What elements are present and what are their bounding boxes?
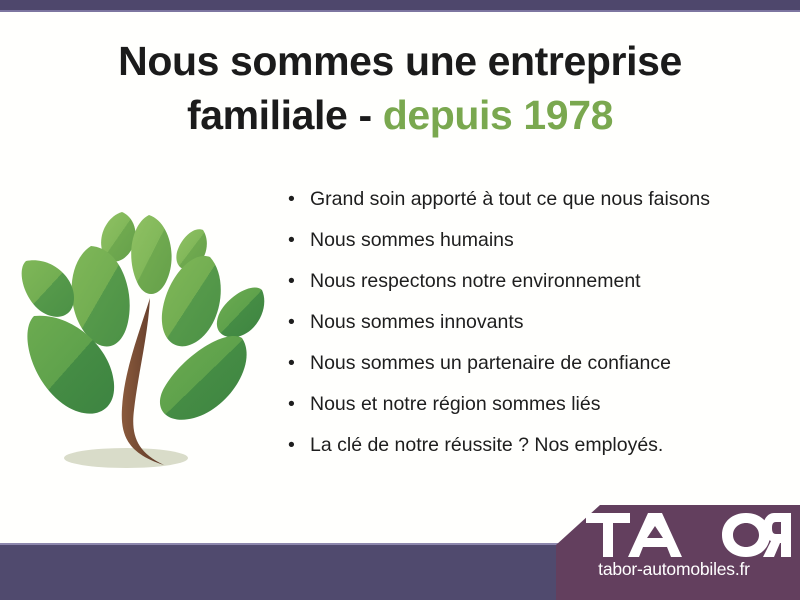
bullet-marker: • xyxy=(288,270,295,292)
list-item-label: Nous respectons notre environnement xyxy=(310,270,641,292)
list-item: • Nous sommes innovants xyxy=(284,311,784,333)
headline-line-2: familiale - depuis 1978 xyxy=(60,88,740,142)
tree-illustration xyxy=(18,186,270,492)
bullet-marker: • xyxy=(288,434,295,456)
list-item: • Nous et notre région sommes liés xyxy=(284,393,784,415)
list-item-label: Nous sommes un partenaire de confiance xyxy=(310,352,671,374)
bullet-marker: • xyxy=(288,311,295,333)
bullet-marker: • xyxy=(288,229,295,251)
list-item: • Nous sommes un partenaire de confiance xyxy=(284,352,784,374)
tree-leaf-far-left xyxy=(22,260,74,317)
list-item-label: Nous sommes innovants xyxy=(310,311,524,333)
headline-line-1: Nous sommes une entreprise xyxy=(118,38,682,84)
bullet-marker: • xyxy=(288,393,295,415)
list-item-label: Nous et notre région sommes liés xyxy=(310,393,600,415)
tree-leaf-upper-right xyxy=(162,256,221,346)
list-item: • La clé de notre réussite ? Nos employé… xyxy=(284,434,784,456)
benefits-list: • Grand soin apporté à tout ce que nous … xyxy=(284,188,784,474)
list-item-label: La clé de notre réussite ? Nos employés. xyxy=(310,434,663,456)
headline-accent: depuis 1978 xyxy=(383,92,613,138)
tree-shadow xyxy=(64,448,188,468)
logo-wordmark-tabor xyxy=(586,513,791,557)
brand-logo[interactable]: tabor-automobiles.fr xyxy=(556,505,800,600)
slide-canvas: Nous sommes une entreprise familiale - d… xyxy=(0,0,800,600)
list-item-label: Nous sommes humains xyxy=(310,229,514,251)
tree-trunk xyxy=(122,298,164,465)
list-item: • Grand soin apporté à tout ce que nous … xyxy=(284,188,784,210)
logo-website-url[interactable]: tabor-automobiles.fr xyxy=(556,559,800,580)
tree-leaf-lower-right xyxy=(160,336,247,420)
tree-leaf-far-right xyxy=(217,287,264,337)
top-accent-bar xyxy=(0,0,800,12)
bullet-marker: • xyxy=(288,352,295,374)
headline-line-2-plain: familiale - xyxy=(187,92,383,138)
list-item-label: Grand soin apporté à tout ce que nous fa… xyxy=(310,188,710,210)
tree-leaf-top-center xyxy=(131,215,171,294)
list-item: • Nous respectons notre environnement xyxy=(284,270,784,292)
bullet-marker: • xyxy=(288,188,295,210)
page-title: Nous sommes une entreprise familiale - d… xyxy=(60,34,740,142)
list-item: • Nous sommes humains xyxy=(284,229,784,251)
